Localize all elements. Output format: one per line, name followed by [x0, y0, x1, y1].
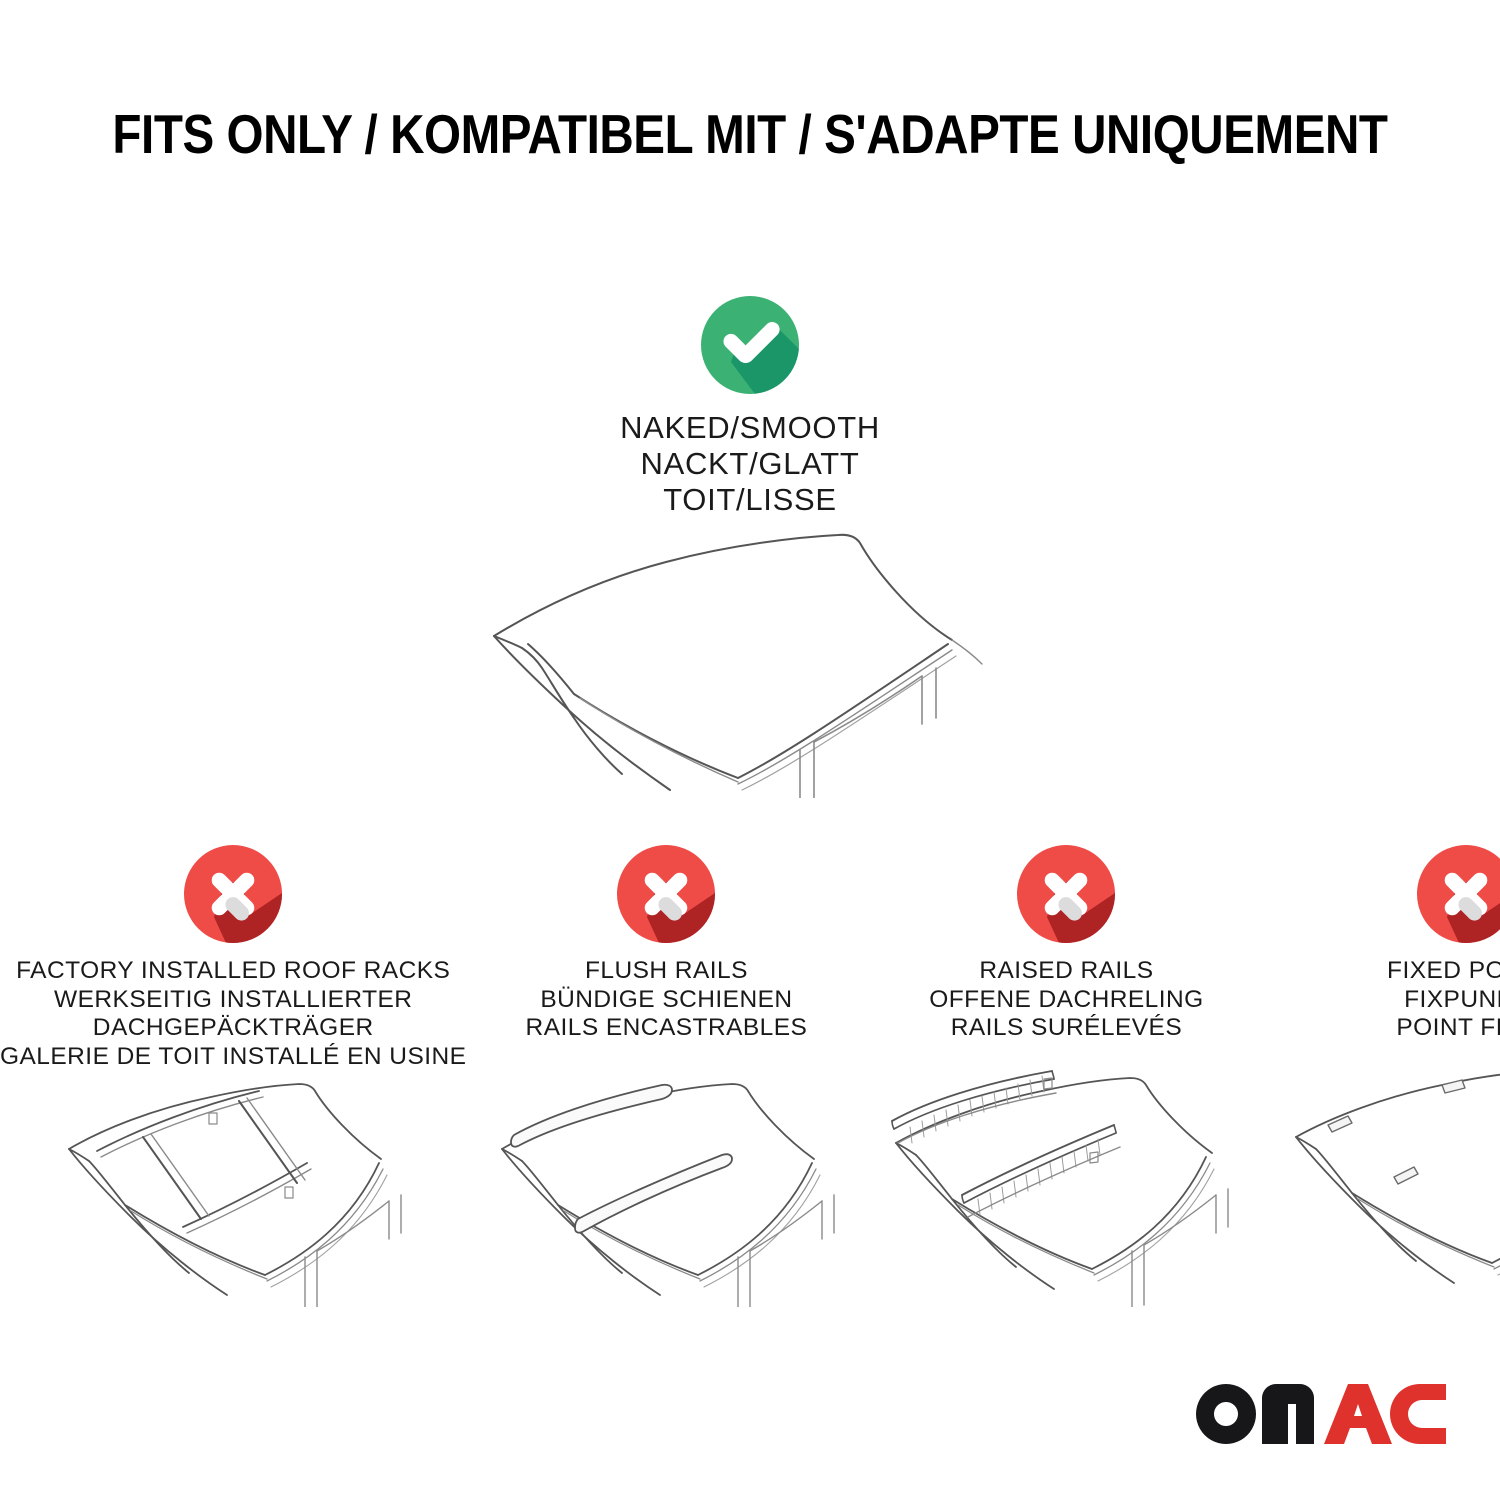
incompatible-item-raised-rails: RAISED RAILS OFFENE DACHRELING RAILS SUR…: [866, 845, 1266, 1307]
incompatible-label: FLUSH RAILS BÜNDIGE SCHIENEN RAILS ENCAS…: [526, 957, 808, 1071]
incompatible-label-fr: POINT FIXE: [1387, 1014, 1500, 1043]
compatible-label-de: NACKT/GLATT: [620, 446, 880, 482]
compatible-section: NAKED/SMOOTH NACKT/GLATT TOIT/LISSE: [0, 296, 1500, 798]
x-circle-icon: [184, 845, 282, 943]
incompatible-label: FIXED POINT FIXPUNKT POINT FIXE: [1387, 957, 1500, 1071]
incompatible-label-en: FLUSH RAILS: [526, 957, 808, 986]
incompatible-label: RAISED RAILS OFFENE DACHRELING RAILS SUR…: [929, 957, 1203, 1071]
incompatible-section: FACTORY INSTALLED ROOF RACKS WERKSEITIG …: [0, 845, 1500, 1307]
compatible-label: NAKED/SMOOTH NACKT/GLATT TOIT/LISSE: [620, 410, 880, 518]
page-title: FITS ONLY / KOMPATIBEL MIT / S'ADAPTE UN…: [101, 103, 1399, 165]
fixed-point-illustration: [1266, 1067, 1500, 1307]
factory-roof-rack-illustration: [33, 1067, 433, 1307]
smooth-roof-illustration: [470, 528, 1030, 798]
compatible-label-fr: TOIT/LISSE: [620, 482, 880, 518]
incompatible-label-de-1: OFFENE DACHRELING: [929, 986, 1203, 1015]
incompatible-item-factory-roof-racks: FACTORY INSTALLED ROOF RACKS WERKSEITIG …: [0, 845, 466, 1307]
incompatible-label-en: FIXED POINT: [1387, 957, 1500, 986]
check-circle-icon: [701, 296, 799, 394]
incompatible-label-de-1: WERKSEITIG INSTALLIERTER: [0, 986, 466, 1015]
incompatible-label-fr: RAILS SURÉLEVÉS: [929, 1014, 1203, 1043]
x-circle-icon: [617, 845, 715, 943]
x-circle-icon: [1417, 845, 1500, 943]
raised-rails-illustration: [866, 1067, 1266, 1307]
incompatible-label-de-1: FIXPUNKT: [1387, 986, 1500, 1015]
incompatible-item-flush-rails: FLUSH RAILS BÜNDIGE SCHIENEN RAILS ENCAS…: [466, 845, 866, 1307]
incompatible-label-fr: RAILS ENCASTRABLES: [526, 1014, 808, 1043]
incompatible-label-de-2: DACHGEPÄCKTRÄGER: [0, 1014, 466, 1043]
fitment-infographic: FITS ONLY / KOMPATIBEL MIT / S'ADAPTE UN…: [0, 0, 1500, 1500]
incompatible-label-de-1: BÜNDIGE SCHIENEN: [526, 986, 808, 1015]
compatible-label-en: NAKED/SMOOTH: [620, 410, 880, 446]
incompatible-label-en: FACTORY INSTALLED ROOF RACKS: [0, 957, 466, 986]
incompatible-label: FACTORY INSTALLED ROOF RACKS WERKSEITIG …: [0, 957, 466, 1071]
flush-rails-illustration: [466, 1067, 866, 1307]
incompatible-item-fixed-point: FIXED POINT FIXPUNKT POINT FIXE: [1266, 845, 1500, 1307]
x-circle-icon: [1017, 845, 1115, 943]
omac-logo: [1196, 1382, 1446, 1448]
incompatible-label-en: RAISED RAILS: [929, 957, 1203, 986]
